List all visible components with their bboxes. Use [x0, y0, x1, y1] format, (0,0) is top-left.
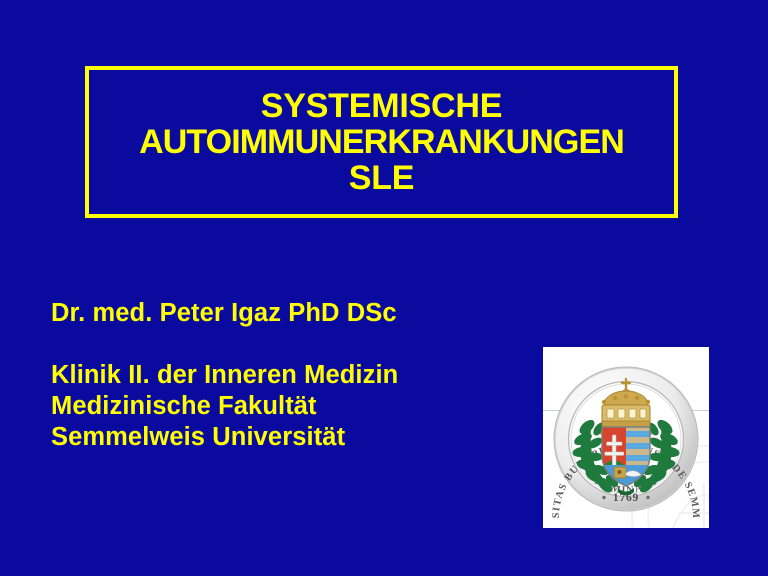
body-spacer: [51, 329, 521, 360]
title-line-2: AUTOIMMUNERKRANKUNGEN: [139, 124, 624, 160]
affiliation-line-1: Klinik II. der Inneren Medizin: [51, 360, 521, 391]
author-line: Dr. med. Peter Igaz PhD DSc: [51, 298, 521, 329]
title-line-1: SYSTEMISCHE: [261, 88, 503, 124]
body-text-block: Dr. med. Peter Igaz PhD DSc Klinik II. d…: [51, 298, 521, 453]
affiliation-line-3: Semmelweis Universität: [51, 422, 521, 453]
affiliation-line-2: Medizinische Fakultät: [51, 391, 521, 422]
seal-dot-left: [602, 496, 605, 499]
title-line-3: SLE: [349, 160, 415, 196]
title-box: SYSTEMISCHE AUTOIMMUNERKRANKUNGEN SLE: [85, 66, 678, 218]
logo-panel: UNIVERSITAS BUDAPESTINENSIS DE SEMMELWEI…: [543, 347, 709, 528]
university-seal-icon: UNIVERSITAS BUDAPESTINENSIS DE SEMMELWEI…: [546, 355, 706, 523]
seal-dot-right: [646, 496, 649, 499]
presentation-slide: SYSTEMISCHE AUTOIMMUNERKRANKUNGEN SLE Dr…: [0, 0, 768, 576]
